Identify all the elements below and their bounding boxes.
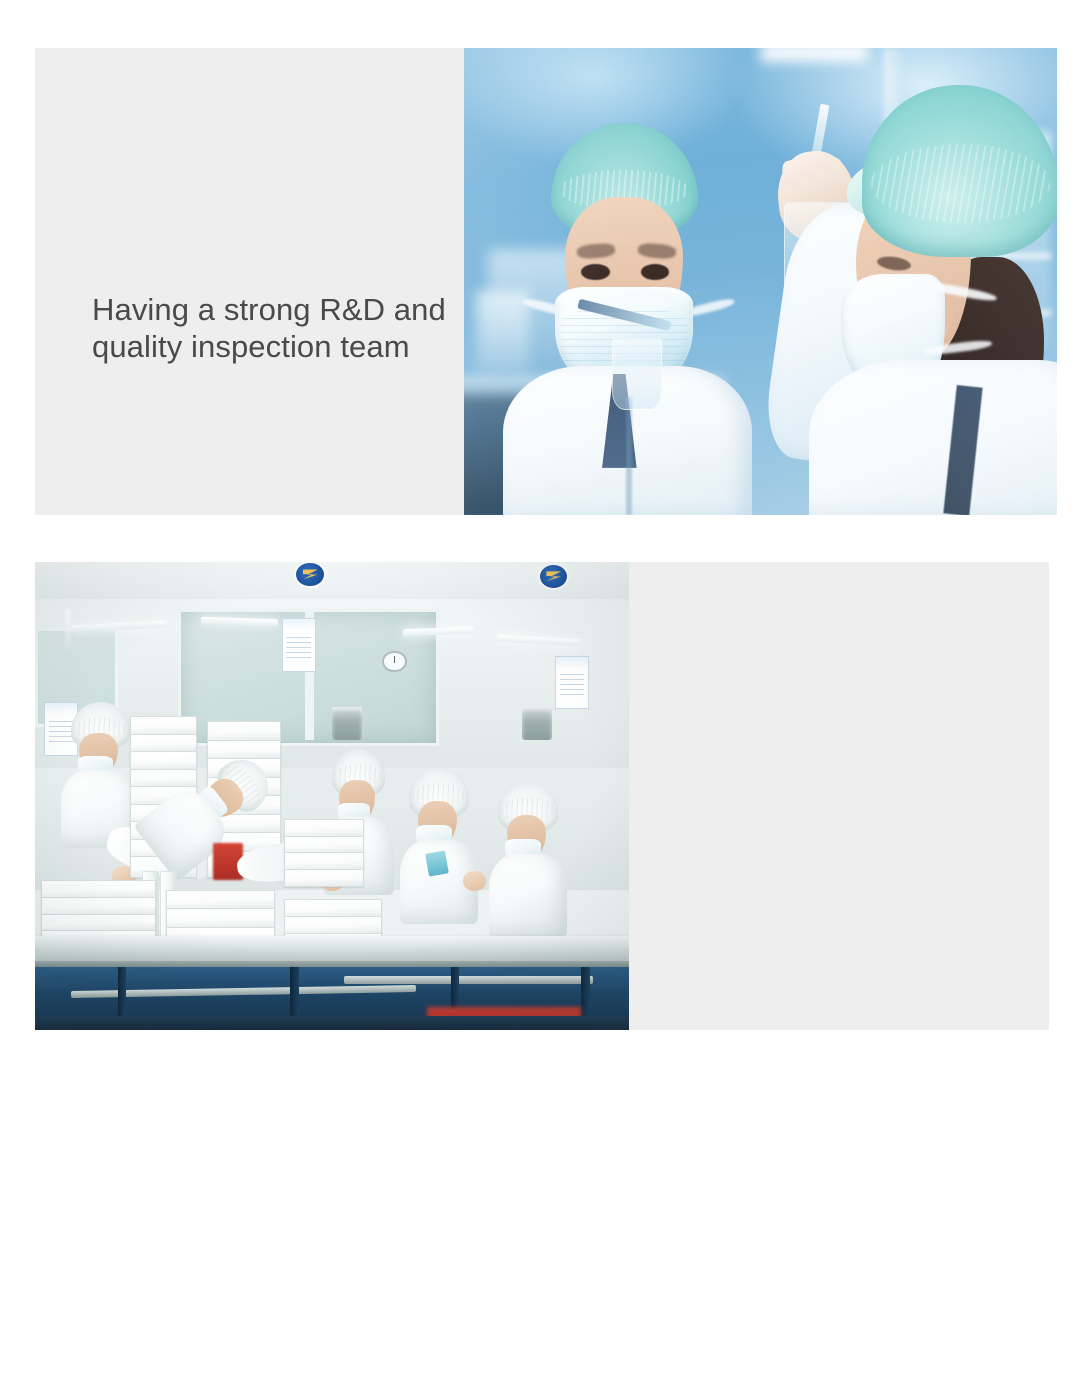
stainless-table-top (35, 936, 629, 962)
rnd-caption-line-2: quality inspection team (92, 329, 410, 364)
lab-technician-profile (820, 85, 1057, 515)
wall-clock-icon (382, 651, 406, 672)
floor (35, 1016, 629, 1030)
wall-notice-board (555, 656, 589, 709)
rnd-caption: Having a strong R&D andquality inspectio… (92, 291, 446, 365)
warehouse-caption-panel: a warehouse distribution areaa warehouse… (629, 562, 1049, 1030)
carton-stack (284, 819, 361, 885)
worker-right (409, 768, 468, 918)
white-coat (489, 854, 567, 938)
rnd-caption-line-1: Having a strong R&D and (92, 292, 446, 327)
table-rail (344, 976, 593, 983)
rnd-caption-panel: Having a strong R&D andquality inspectio… (35, 48, 464, 515)
hanging-strip-curtain (65, 609, 72, 651)
company-logo-badge-icon (296, 563, 323, 586)
stainless-container (522, 707, 552, 740)
worker-far-right (498, 782, 557, 932)
lab-inspection-photo (464, 48, 1057, 515)
eye (641, 264, 669, 280)
stainless-container (332, 707, 362, 740)
warehouse-packing-photo (35, 562, 629, 1030)
page-canvas: Having a strong R&D andquality inspectio… (0, 0, 1080, 1080)
wall-notice-board (282, 618, 316, 671)
eye (581, 264, 609, 280)
cleanroom-ceiling (35, 562, 629, 604)
lab-ceiling-light (761, 48, 868, 62)
hairnet-cap (862, 85, 1057, 257)
lab-beaker (612, 338, 661, 410)
coat-placket (626, 397, 632, 515)
teal-package (425, 851, 449, 878)
lab-coat (809, 360, 1057, 515)
worker-left (71, 702, 130, 842)
